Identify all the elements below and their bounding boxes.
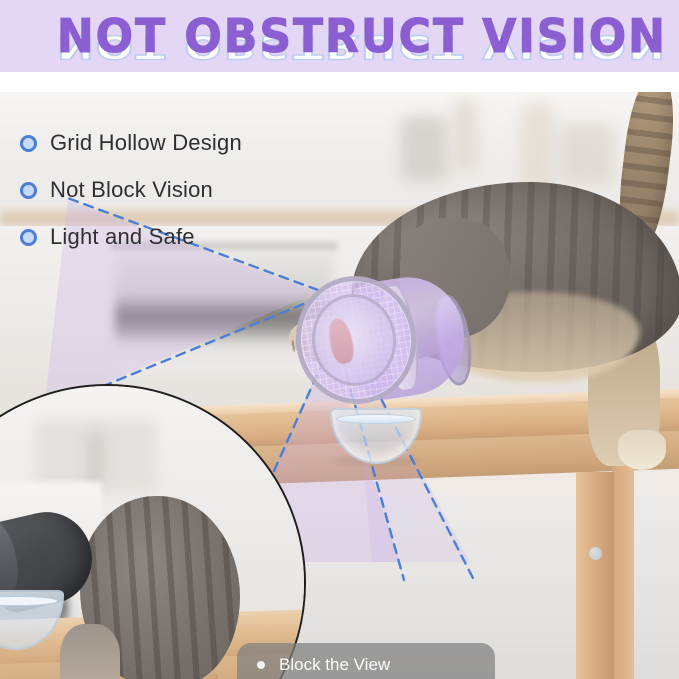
callout-item-label: Block the View	[279, 655, 390, 675]
feature-label: Grid Hollow Design	[50, 130, 242, 156]
photo-stage: Block the View Easy to Bump into Things …	[0, 92, 679, 679]
feature-row: Light and Safe	[20, 224, 320, 250]
product-feature-poster: NOT OBSTRUCT VISION NOT OBSTRUCT VISION	[0, 0, 679, 679]
callout-bullet-icon	[257, 661, 265, 669]
feature-row: Grid Hollow Design	[20, 130, 320, 156]
feature-list: Grid Hollow Design Not Block Vision Ligh…	[20, 130, 320, 271]
drawbacks-callout: Block the View Easy to Bump into Things …	[237, 643, 495, 679]
comparison-inset	[0, 384, 306, 679]
callout-row: Block the View	[257, 655, 495, 675]
header-title: NOT OBSTRUCT VISION	[0, 8, 679, 67]
recovery-cone	[296, 272, 476, 412]
feature-label: Not Block Vision	[50, 177, 213, 203]
circle-bullet-icon	[20, 182, 37, 199]
header-white-strip	[0, 72, 679, 92]
circle-bullet-icon	[20, 135, 37, 152]
circle-bullet-icon	[20, 229, 37, 246]
inset-blocked-vision-lines	[0, 386, 304, 679]
feature-label: Light and Safe	[50, 224, 195, 250]
bowl-water-surface	[336, 414, 416, 424]
feature-row: Not Block Vision	[20, 177, 320, 203]
